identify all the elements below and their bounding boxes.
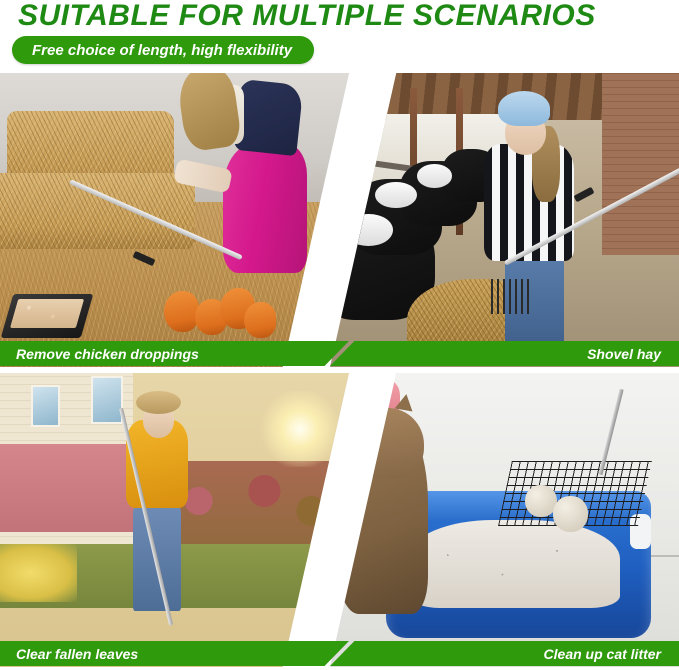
caption-clear-fallen-leaves: Clear fallen leaves	[0, 641, 349, 666]
panel-clean-up-cat-litter	[330, 373, 679, 667]
chicken	[164, 291, 199, 332]
collage-row-bottom: Clear fallen leaves Clean up cat litter	[0, 373, 679, 667]
shovel-head	[491, 279, 533, 314]
photo-cat-litter	[330, 373, 679, 667]
straw-bale-lower	[0, 173, 195, 249]
pink-wall	[0, 444, 147, 532]
brick-wall	[602, 73, 679, 255]
photo-chicken-coop	[0, 73, 349, 367]
collage-row-top: Remove chicken droppings Shovel hay	[0, 73, 679, 367]
caption-text: Shovel hay	[587, 346, 661, 362]
window	[91, 376, 123, 424]
caption-text: Clear fallen leaves	[16, 646, 138, 662]
caption-clean-up-cat-litter: Clean up cat litter	[330, 641, 679, 666]
caption-text: Remove chicken droppings	[16, 346, 199, 362]
caption-remove-chicken-droppings: Remove chicken droppings	[0, 341, 349, 366]
scooped-droppings	[10, 299, 85, 328]
plaid-shirt	[484, 144, 575, 262]
header: SUITABLE FOR MULTIPLE SCENARIOS Free cho…	[0, 0, 679, 73]
feature-badge: Free choice of length, high flexibility	[12, 36, 314, 64]
cat-litter	[410, 520, 619, 608]
litter-clump	[525, 485, 556, 517]
window	[31, 385, 59, 427]
cow-white-patch	[344, 214, 393, 246]
sun-flare	[258, 391, 342, 467]
caption-text: Clean up cat litter	[544, 646, 661, 662]
cat-head	[354, 408, 424, 479]
page-title: SUITABLE FOR MULTIPLE SCENARIOS	[18, 0, 596, 33]
litter-clump	[553, 496, 588, 531]
panel-shovel-hay	[330, 73, 679, 367]
photo-dairy-barn	[330, 73, 679, 367]
scenario-collage: Remove chicken droppings Shovel hay	[0, 73, 679, 670]
cat-ear	[360, 395, 381, 415]
panel-remove-chicken-droppings	[0, 73, 349, 367]
photo-autumn-yard	[0, 373, 349, 667]
cow-white-patch	[417, 164, 452, 188]
cat-ear	[395, 392, 416, 411]
feature-badge-label: Free choice of length, high flexibility	[32, 42, 292, 59]
panel-clear-fallen-leaves	[0, 373, 349, 667]
blue-headscarf	[498, 91, 550, 126]
navy-apron	[234, 79, 304, 156]
caption-shovel-hay: Shovel hay	[330, 341, 679, 366]
chicken	[244, 302, 275, 337]
